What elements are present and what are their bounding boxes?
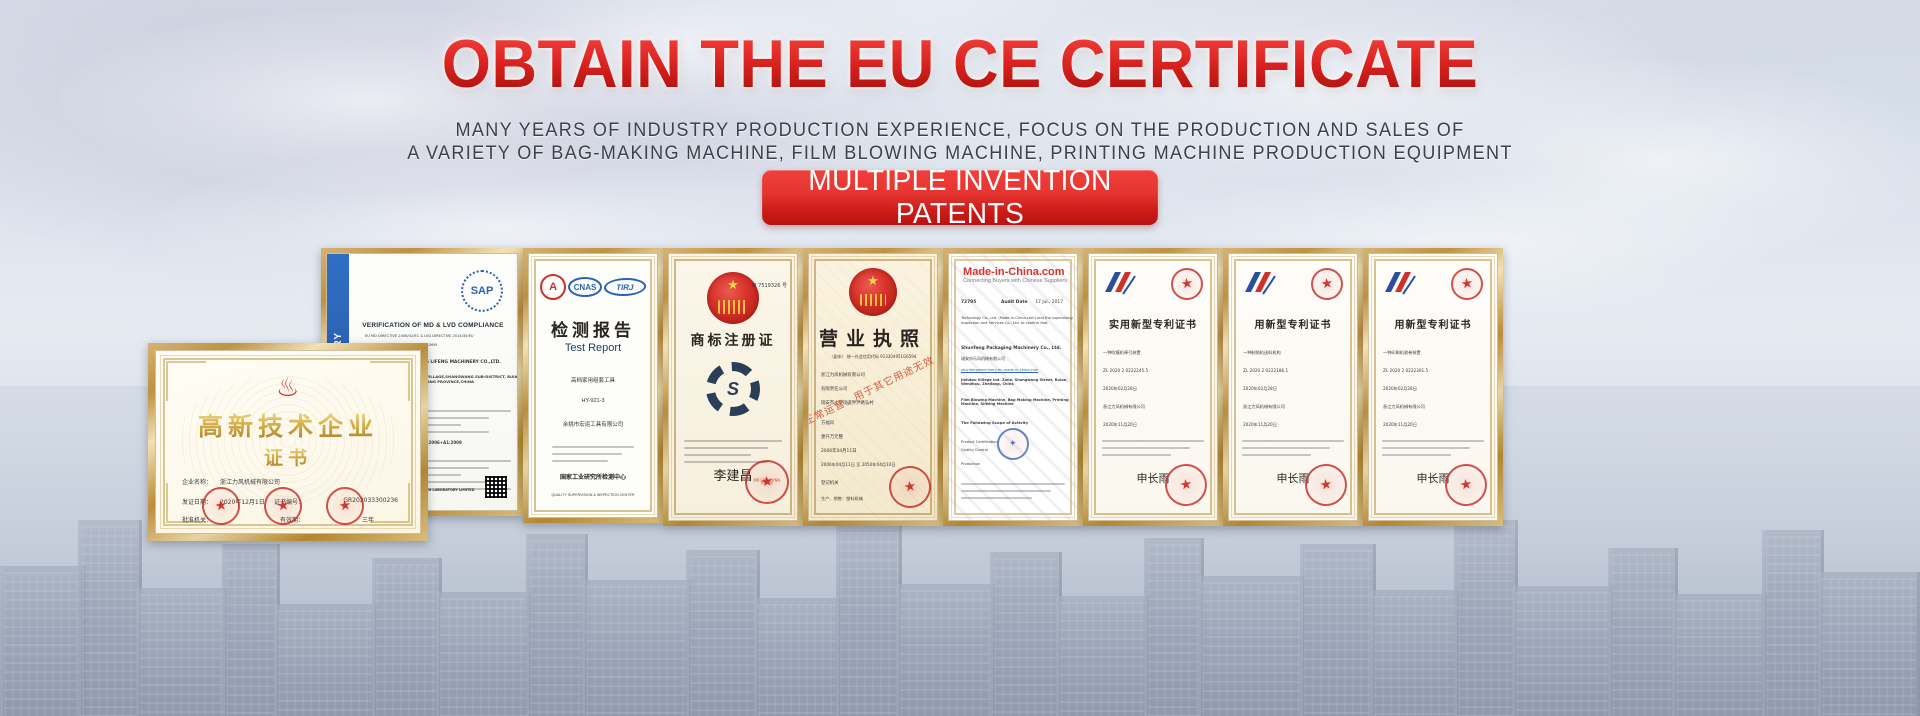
patent-grant-date: 2020年11月20日 bbox=[1243, 422, 1277, 428]
license-field-rep: 方福风 bbox=[821, 420, 834, 426]
patent-filing-date: 2020年02月28日 bbox=[1243, 386, 1277, 392]
tirj-logo: TIRJ bbox=[602, 278, 648, 296]
business-license-cn-title: 营业执照 bbox=[809, 324, 937, 351]
audited-company-name: Shunfeng Packaging Machinery Co., Ltd. bbox=[961, 346, 1061, 351]
audited-company-name-cn: 瑞安市乐风机械有限公司 bbox=[961, 356, 1005, 362]
patent-cn-title: 用新型专利证书 bbox=[1369, 316, 1497, 331]
trademark-cn-title: 商标注册证 bbox=[669, 330, 797, 350]
patent-filing-date: 2020年02月28日 bbox=[1383, 386, 1417, 392]
audit-item-3: Production bbox=[961, 462, 980, 466]
subtitle-line-1: MANY YEARS OF INDUSTRY PRODUCTION EXPERI… bbox=[48, 120, 1872, 142]
patent-name-field: 一种印刷机收卷装置 bbox=[1383, 350, 1421, 356]
patent-number-field: ZL 2020 2 0222301.5 bbox=[1383, 368, 1428, 373]
audit-date-value: 17 Jul., 2017 bbox=[1035, 300, 1063, 305]
audit-body-text: Technology Co., Ltd. (Made-in-China.com)… bbox=[961, 316, 1077, 327]
patent-cn-title: 实用新型专利证书 bbox=[1089, 316, 1217, 331]
license-code-line: （副本） 统一社会信用代码 913304951G6594 bbox=[830, 354, 917, 360]
multiple-invention-patents-button[interactable]: MULTIPLE INVENTION PATENTS bbox=[762, 170, 1158, 225]
test-sample-name: 高档家用组套工具 bbox=[529, 376, 657, 384]
sap-logo: SAP bbox=[461, 270, 503, 312]
page-title: OBTAIN THE EU CE CERTIFICATE bbox=[67, 28, 1853, 100]
ht-company-label: 企业名称： bbox=[182, 477, 212, 486]
certificate-utility-model-patent-2[interactable]: 用新型专利证书 一种制袋机送料机构 ZL 2020 2 0222186.1 20… bbox=[1223, 248, 1363, 526]
patent-number-field: ZL 2020 2 0222245.5 bbox=[1103, 368, 1148, 373]
subtitle-line-2: A VARIETY OF BAG-MAKING MACHINE, FILM BL… bbox=[48, 143, 1872, 165]
institute-name: 国家工业研究所检测中心 bbox=[529, 472, 657, 481]
patent-body-text bbox=[1382, 440, 1484, 461]
test-report-en-title: Test Report bbox=[529, 342, 657, 354]
license-field-scope: 生产、销售：塑料机械 bbox=[821, 496, 863, 502]
patent-cn-title: 用新型专利证书 bbox=[1229, 316, 1357, 331]
national-emblem-icon bbox=[849, 268, 897, 316]
institute-name-en: QUALITY SUPERVISION & INSPECTION CENTER bbox=[529, 493, 657, 497]
cnipa-logo-icon bbox=[1243, 270, 1277, 296]
high-tech-cn-title: 高新技术企业 bbox=[156, 407, 420, 443]
patent-holder-field: 浙江力风机械有限公司 bbox=[1243, 404, 1285, 410]
audited-company-site: shunfengmachinery-en.made-in-china.com bbox=[961, 368, 1038, 372]
audit-item-1: Product Certification bbox=[961, 440, 998, 444]
cta-container: MULTIPLE INVENTION PATENTS bbox=[0, 170, 1920, 225]
certificate-high-tech-enterprise[interactable]: ♨ 高新技术企业 证书 企业名称： 浙江力风机械有限公司 证书编号： GR202… bbox=[148, 343, 428, 541]
verification-title: VERIFICATION OF MD & LVD COMPLIANCE bbox=[353, 322, 513, 329]
high-tech-cn-subtitle: 证书 bbox=[156, 443, 420, 470]
certificate-made-in-china-audit[interactable]: Made-in-China.com Connecting Buyers with… bbox=[943, 248, 1083, 526]
audited-scope: Film Blowing Machine, Bag Making Machine… bbox=[961, 398, 1077, 406]
patent-name-field: 一种吹膜机牵引装置 bbox=[1103, 350, 1141, 356]
audit-item-2: Quality Control bbox=[961, 448, 988, 452]
audit-report-no: 72795 bbox=[961, 300, 976, 305]
accreditation-logos: A CNAS TIRJ bbox=[539, 274, 647, 300]
audit-date-label: Audit Date bbox=[1001, 300, 1027, 305]
directive-line: EU MD DIRECTIVE 2006/42/EC & LVD DIRECTI… bbox=[365, 334, 474, 338]
patent-holder-field: 浙江力风机械有限公司 bbox=[1103, 404, 1145, 410]
certificate-utility-model-patent-3[interactable]: 用新型专利证书 一种印刷机收卷装置 ZL 2020 2 0222301.5 20… bbox=[1363, 248, 1503, 526]
certificate-business-license[interactable]: 营业执照 （副本） 统一社会信用代码 913304951G6594 浙江力风机械… bbox=[803, 248, 943, 526]
test-report-cn-title: 检测报告 bbox=[529, 316, 657, 341]
trademark-gear-logo: S bbox=[706, 362, 760, 416]
patent-body-text bbox=[1102, 440, 1204, 461]
patent-grant-date: 2020年11月20日 bbox=[1103, 422, 1137, 428]
national-emblem-icon bbox=[707, 272, 759, 324]
license-issuer-label: 登记机关 bbox=[821, 480, 839, 486]
license-field-term: 2006年04月11日 至 2050年04月10日 bbox=[821, 462, 896, 468]
patent-holder-field: 浙江力风机械有限公司 bbox=[1383, 404, 1425, 410]
audit-footer-text bbox=[961, 483, 1066, 504]
test-report-body bbox=[552, 446, 634, 467]
patent-filing-date: 2020年02月28日 bbox=[1103, 386, 1137, 392]
audit-activities-heading: The Following Scope of Activity bbox=[961, 420, 1028, 425]
banner-stage: OBTAIN THE EU CE CERTIFICATE MANY YEARS … bbox=[0, 0, 1920, 716]
cnipa-logo-icon bbox=[1383, 270, 1417, 296]
cnipa-logo-icon bbox=[1103, 270, 1137, 296]
test-model-number: HY-921-3 bbox=[529, 398, 657, 404]
license-field-capital: 壹仟万元整 bbox=[821, 434, 843, 440]
certificate-test-report[interactable]: A CNAS TIRJ 检测报告 Test Report 高档家用组套工具 HY… bbox=[523, 248, 663, 523]
certificate-utility-model-patent-1[interactable]: 实用新型专利证书 一种吹膜机牵引装置 ZL 2020 2 0222245.5 2… bbox=[1083, 248, 1223, 526]
test-company-name: 余姚市宏运工具有限公司 bbox=[529, 420, 657, 428]
patent-body-text bbox=[1242, 440, 1344, 461]
patent-number-field: ZL 2020 2 0222186.1 bbox=[1243, 368, 1288, 373]
corner-ornament bbox=[370, 361, 410, 401]
quality-a-logo: A bbox=[540, 274, 566, 300]
ht-company-value: 浙江力风机械有限公司 bbox=[220, 477, 280, 486]
made-in-china-logo: Made-in-China.com Connecting Buyers with… bbox=[963, 266, 1067, 284]
patent-name-field: 一种制袋机送料机构 bbox=[1243, 350, 1281, 356]
ht-validity-value: 三年 bbox=[362, 515, 374, 524]
audited-company-address: Jielutou Village Ind. Zone, Shangwang St… bbox=[961, 378, 1077, 386]
certificate-trademark-registration[interactable]: 第 7519326 号 商标注册证 S 李建昌 国家工商行政管理总局商标局 bbox=[663, 248, 803, 526]
made-in-china-tagline: Connecting Buyers with Chinese Suppliers bbox=[963, 278, 1067, 284]
corner-ornament bbox=[166, 361, 206, 401]
patent-grant-date: 2020年11月20日 bbox=[1383, 422, 1417, 428]
trademark-number: 第 7519326 号 bbox=[752, 282, 787, 289]
certificate-gallery: NG LABORATORY SAP VERIFICATION OF MD & L… bbox=[0, 248, 1920, 548]
license-field-founded: 2006年04月11日 bbox=[821, 448, 857, 454]
cnas-logo: CNAS bbox=[568, 277, 602, 297]
qr-code-icon bbox=[485, 476, 507, 498]
high-tech-flame-logo-icon: ♨ bbox=[276, 375, 299, 401]
license-field-type: 有限责任公司 bbox=[821, 386, 847, 392]
license-field-name: 浙江力风机械有限公司 bbox=[821, 372, 865, 378]
